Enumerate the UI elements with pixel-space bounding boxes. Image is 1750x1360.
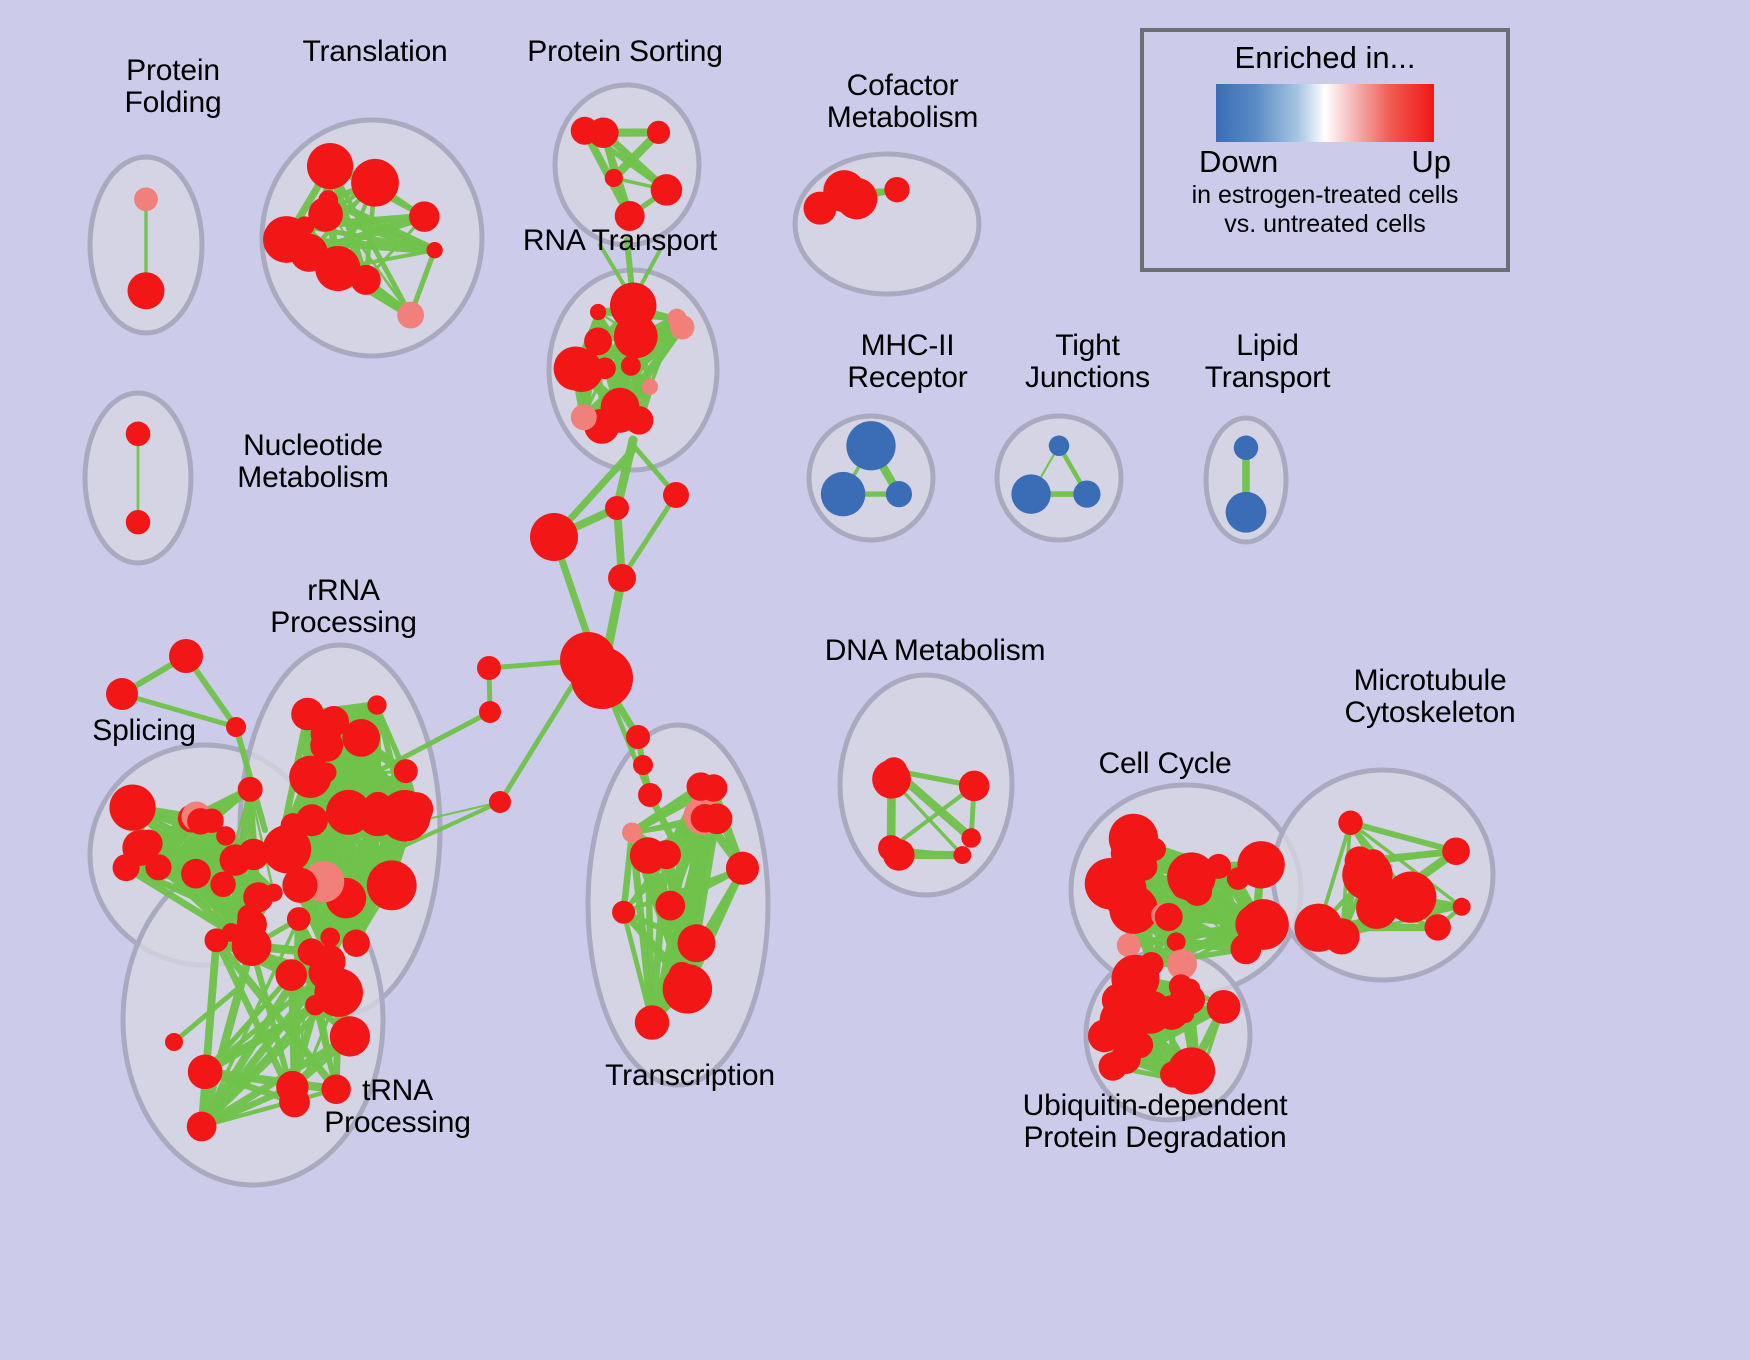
network-node <box>1294 904 1342 952</box>
network-node <box>1234 436 1258 460</box>
legend-title: Enriched in... <box>1235 40 1416 76</box>
network-node <box>1169 974 1193 998</box>
network-node <box>621 356 641 376</box>
network-node <box>726 852 759 885</box>
network-node <box>1073 481 1100 508</box>
network-node <box>232 926 272 966</box>
network-node <box>571 404 597 430</box>
network-node <box>633 755 653 775</box>
network-node <box>275 959 307 991</box>
network-node <box>204 928 228 952</box>
network-node <box>1167 932 1186 951</box>
network-node <box>351 159 399 207</box>
network-node <box>188 1054 223 1089</box>
network-edge <box>622 495 676 578</box>
network-node <box>700 774 727 801</box>
legend-high-label: Up <box>1411 144 1451 180</box>
network-node <box>1049 436 1069 456</box>
network-node <box>1168 1047 1215 1094</box>
network-node <box>669 962 695 988</box>
network-node <box>342 719 380 757</box>
network-node <box>187 1112 217 1142</box>
network-node <box>169 639 203 673</box>
network-node <box>677 924 715 962</box>
network-node <box>1207 990 1241 1024</box>
network-node <box>409 201 440 232</box>
network-node <box>635 1005 669 1039</box>
network-node <box>884 177 909 202</box>
network-node <box>226 717 246 737</box>
network-node <box>392 807 416 831</box>
network-node <box>886 481 912 507</box>
network-node <box>1085 858 1136 909</box>
network-node <box>647 121 670 144</box>
network-node <box>1361 849 1386 874</box>
network-node <box>263 216 310 263</box>
network-node <box>291 698 324 731</box>
network-node <box>961 828 981 848</box>
network-node <box>1338 811 1362 835</box>
network-node <box>638 783 662 807</box>
network-node <box>287 907 311 931</box>
network-node <box>560 349 603 392</box>
cluster-halo-tight_junctions <box>997 416 1121 540</box>
network-node <box>134 187 158 211</box>
network-node <box>326 790 371 835</box>
network-node <box>610 282 656 328</box>
network-node <box>317 763 337 783</box>
network-node <box>605 169 623 187</box>
legend-caption-line-1: in estrogen-treated cells <box>1192 181 1459 210</box>
network-node <box>571 647 633 709</box>
network-node <box>959 771 990 802</box>
network-node <box>1424 914 1450 940</box>
network-node <box>106 678 138 710</box>
network-node <box>622 822 642 842</box>
network-node <box>605 496 629 520</box>
network-node <box>630 837 666 873</box>
network-node <box>126 422 151 447</box>
network-node <box>477 656 501 680</box>
network-node <box>651 174 682 205</box>
network-node <box>307 143 353 189</box>
network-node <box>612 901 635 924</box>
network-node <box>1011 474 1050 513</box>
network-node <box>1117 933 1141 957</box>
network-node <box>282 868 317 903</box>
network-node <box>281 813 306 838</box>
network-node <box>1206 854 1231 879</box>
network-node <box>691 804 720 833</box>
network-node <box>489 791 511 813</box>
network-node <box>663 482 689 508</box>
network-node <box>367 695 386 714</box>
network-node <box>243 882 273 912</box>
network-node <box>626 725 650 749</box>
network-node <box>270 843 289 862</box>
network-node <box>1392 883 1419 910</box>
network-node <box>397 302 424 329</box>
network-node <box>135 830 163 858</box>
network-figure: Protein FoldingTranslationProtein Sortin… <box>0 0 1750 1360</box>
network-node <box>342 930 369 957</box>
network-node <box>590 304 606 320</box>
network-node <box>883 839 915 871</box>
network-node <box>1109 814 1158 863</box>
network-node <box>601 388 640 427</box>
network-node <box>571 117 599 145</box>
network-node <box>479 701 501 723</box>
legend-box: Enriched in... Down Up in estrogen-treat… <box>1140 28 1510 272</box>
network-node <box>821 472 865 516</box>
legend-caption: in estrogen-treated cells vs. untreated … <box>1192 181 1459 239</box>
legend-caption-line-2: vs. untreated cells <box>1192 210 1459 239</box>
network-node <box>367 860 417 910</box>
network-node <box>953 846 971 864</box>
network-node <box>1126 1031 1153 1058</box>
network-node <box>181 859 211 889</box>
legend-color-gradient-bar <box>1216 84 1434 142</box>
network-node <box>321 1075 350 1104</box>
network-node <box>238 777 263 802</box>
network-node <box>642 379 658 395</box>
network-node <box>881 757 907 783</box>
network-node <box>846 421 895 470</box>
network-node <box>1226 492 1267 533</box>
network-node <box>315 246 360 291</box>
network-node <box>608 564 636 592</box>
legend-endpoint-labels: Down Up <box>1199 144 1451 180</box>
network-node <box>128 272 165 309</box>
network-node <box>276 1071 308 1103</box>
network-node <box>615 201 645 231</box>
network-node <box>1453 898 1471 916</box>
network-node <box>320 928 340 948</box>
network-node <box>309 956 342 989</box>
network-node <box>210 872 235 897</box>
network-node <box>1442 837 1470 865</box>
network-node <box>667 309 686 328</box>
network-node <box>109 785 155 831</box>
network-node <box>1231 933 1262 964</box>
network-node <box>330 1016 370 1056</box>
network-node <box>126 510 150 534</box>
network-node <box>199 808 223 832</box>
network-node <box>655 891 685 921</box>
legend-low-label: Down <box>1199 144 1278 180</box>
network-node <box>530 513 578 561</box>
network-node <box>426 242 442 258</box>
network-node <box>318 190 338 210</box>
network-node <box>1155 903 1183 931</box>
network-node <box>165 1033 183 1051</box>
network-node <box>823 170 865 212</box>
network-node <box>1171 875 1195 899</box>
network-node <box>394 759 418 783</box>
